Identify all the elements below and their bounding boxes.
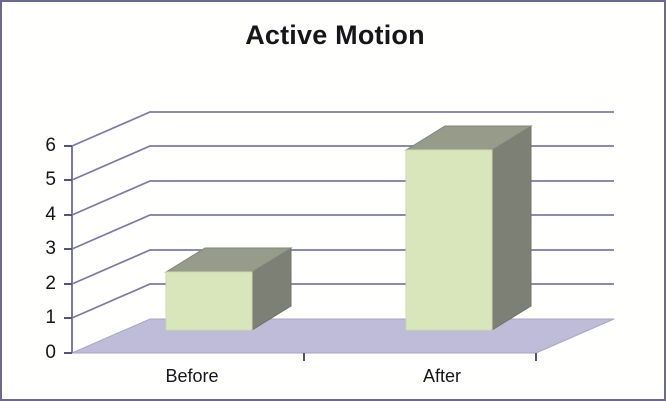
chart-container: Active Motion [0,0,666,401]
x-category-label-before: Before [132,366,252,387]
floor-plane [72,319,614,353]
y-tick-label-6: 6 [26,135,56,157]
x-category-label-after: After [382,366,502,387]
gridline-3 [72,215,614,249]
x-axis-ticks [304,353,536,361]
gridline-5 [72,146,614,180]
gridline-4 [72,181,614,215]
gridline-1 [72,284,614,318]
gridline-2 [72,250,614,284]
y-tick-label-1: 1 [26,307,56,329]
y-tick-label-4: 4 [26,204,56,226]
bar-before[interactable] [166,248,291,330]
y-tick-label-2: 2 [26,273,56,295]
bar-before-front [166,272,252,330]
bar-after[interactable] [406,126,531,330]
gridlines [72,112,614,318]
y-axis-ticks [64,146,72,353]
bar-after-side [492,126,531,330]
y-tick-label-3: 3 [26,238,56,260]
gridline-6 [72,112,614,146]
y-tick-label-5: 5 [26,169,56,191]
y-tick-label-0: 0 [26,342,56,364]
chart-plot-area [2,2,666,401]
bar-after-front [406,150,492,330]
